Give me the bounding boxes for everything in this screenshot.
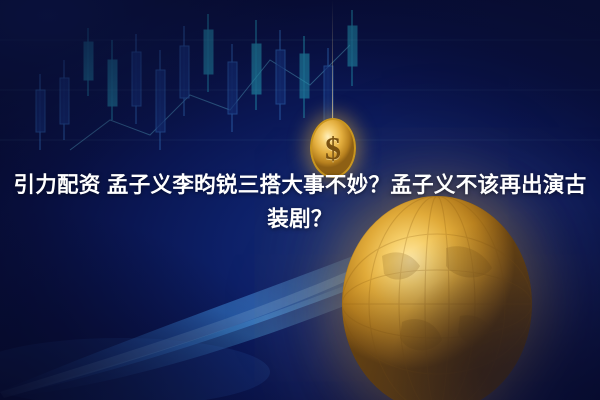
coin-string bbox=[332, 0, 333, 120]
headline-text: 引力配资 孟子义李昀锐三搭大事不妙？孟子义不该再出演古装剧？ bbox=[8, 168, 592, 236]
promo-image: $ 引力配资 孟子义李昀锐三搭大事不妙？孟子义不该再出演古装剧？ bbox=[0, 0, 600, 400]
